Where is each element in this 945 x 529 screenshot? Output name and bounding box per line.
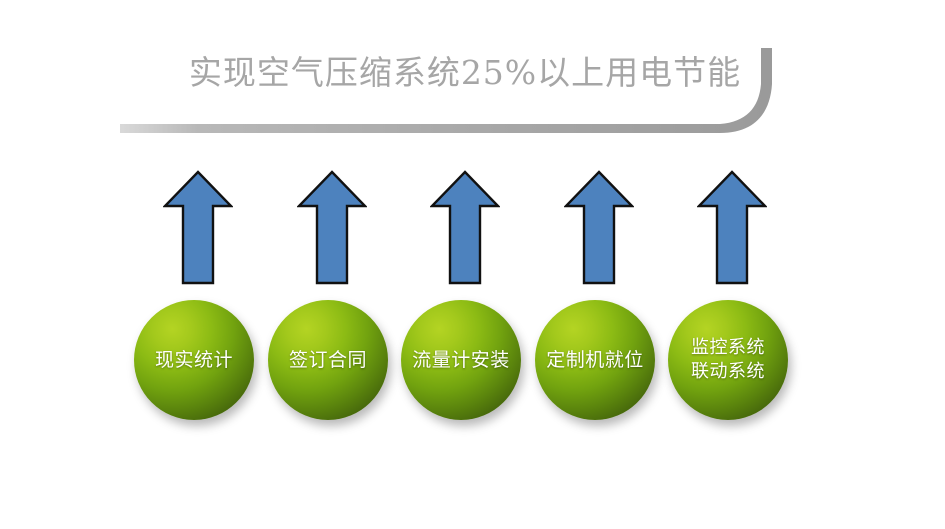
arrow-up-icon-2 [297,170,367,286]
step-sphere-5[interactable]: 监控系统 联动系统 [668,300,788,420]
step-sphere-label-3: 流量计安装 [412,348,510,373]
step-sphere-label-1: 现实统计 [155,348,233,373]
page-title: 实现空气压缩系统25%以上用电节能 [155,46,775,94]
title-block: 实现空气压缩系统25%以上用电节能 [120,36,820,146]
arrow-up-icon-5 [697,170,767,286]
arrow-up-icon-3 [430,170,500,286]
step-sphere-4[interactable]: 定制机就位 [535,300,655,420]
step-sphere-label-4: 定制机就位 [546,348,644,373]
step-sphere-3[interactable]: 流量计安装 [401,300,521,420]
arrow-up-icon-1 [163,170,233,286]
step-sphere-1[interactable]: 现实统计 [134,300,254,420]
step-sphere-2[interactable]: 签订合同 [268,300,388,420]
step-sphere-label-5: 监控系统 联动系统 [691,336,765,384]
step-sphere-label-2: 签订合同 [289,348,367,373]
arrow-up-icon-4 [564,170,634,286]
slide-canvas: 实现空气压缩系统25%以上用电节能 现实统计 签订合同 流量计安装 定制机就位 … [0,0,945,529]
